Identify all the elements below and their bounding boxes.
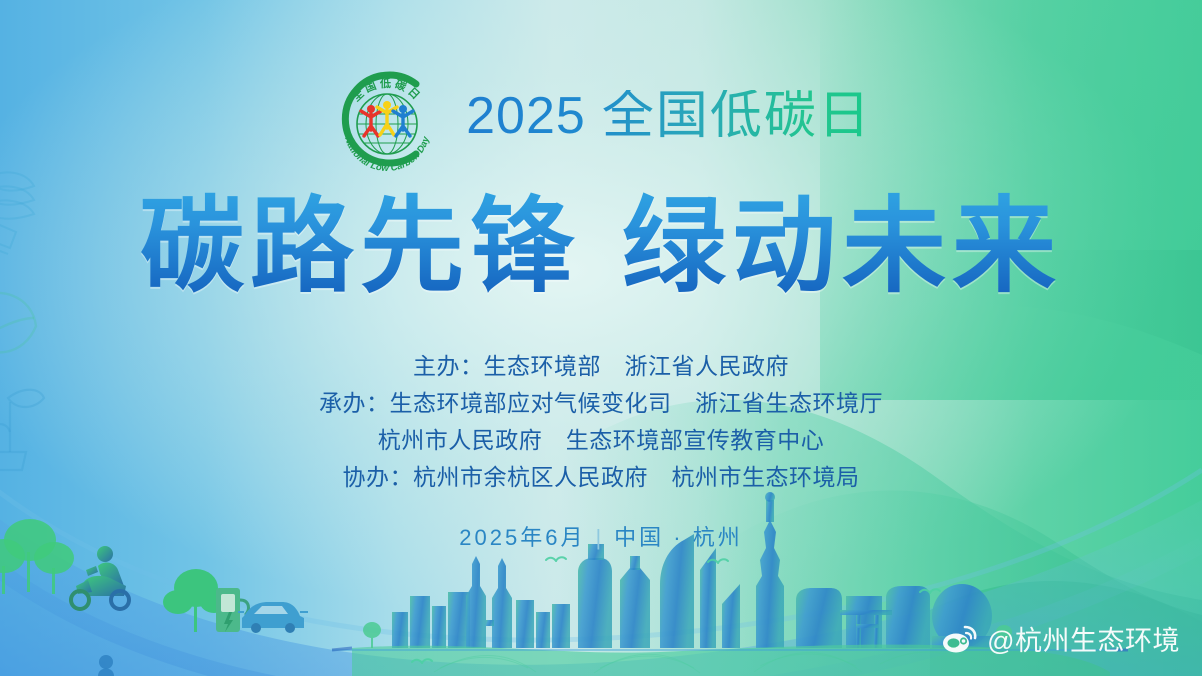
logo-figure-yellow [377,101,397,135]
organizer-credits: 主办：生态环境部 浙江省人民政府 承办：生态环境部应对气候变化司 浙江省生态环境… [0,348,1202,496]
slogan-part-1: 碳路先锋 [140,189,580,305]
slogan-part-2: 绿动未来 [622,189,1062,305]
main-slogan: 碳路先锋绿动未来 [0,190,1202,304]
datebar-divider: | [595,525,604,551]
organizer-line-support: 协办：杭州市余杭区人民政府 杭州市生态环境局 [0,459,1202,496]
logo-figure-red [361,105,381,136]
weibo-icon [942,624,978,654]
poster-canvas: 全国低碳日 [0,0,1202,676]
event-place: 中国 · 杭州 [614,525,743,550]
organizer-line-operator: 承办：生态环境部应对气候变化司 浙江省生态环境厅 [0,385,1202,422]
event-year: 2025 [466,87,586,145]
event-title: 2025全国低碳日 [466,90,872,148]
date-and-place: 2025年6月|中国 · 杭州 [0,520,1202,552]
weibo-handle: @杭州生态环境 [987,619,1180,658]
national-low-carbon-day-emblem: 全国低碳日 [330,62,444,176]
weibo-watermark: @杭州生态环境 [942,619,1180,658]
event-title-cn: 全国低碳日 [602,87,872,145]
header-row: 全国低碳日 [0,62,1202,176]
logo-figure-blue [393,105,413,136]
organizer-line-operator2: 杭州市人民政府 生态环境部宣传教育中心 [0,422,1202,459]
organizer-line-host: 主办：生态环境部 浙江省人民政府 [0,348,1202,385]
event-date: 2025年6月 [459,525,585,550]
